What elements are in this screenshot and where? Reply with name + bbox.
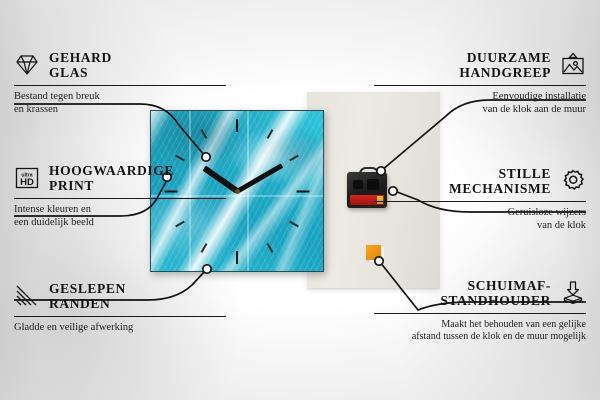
leader-endpoint-schuimafstandhouder: [375, 257, 383, 265]
feature-description: Gladde en veilige afwerking: [14, 322, 226, 335]
feature-divider: [14, 198, 226, 199]
leader-endpoint-geslepen-randen: [203, 265, 211, 273]
feature-duurzame-handgreep: DUURZAMEHANDGREEP Eenvoudige installatie…: [374, 50, 586, 116]
feature-description: Bestand tegen breuken krassen: [14, 91, 226, 116]
feature-title: SCHUIMAF-STANDHOUDER: [440, 278, 551, 308]
feature-divider: [374, 201, 586, 202]
feature-geslepen-randen: GESLEPENRANDEN Gladde en veilige afwerki…: [14, 281, 226, 335]
feature-gehard-glas: GEHARDGLAS Bestand tegen breuken krassen: [14, 50, 226, 116]
feature-heading: ultra HD HOOGWAARDIGEPRINT: [14, 163, 226, 193]
feature-divider: [14, 316, 226, 317]
diamond-icon: [14, 52, 40, 78]
feature-hoogwaardige-print: ultra HD HOOGWAARDIGEPRINT Intense kleur…: [14, 163, 226, 229]
feature-title: GEHARDGLAS: [49, 50, 112, 80]
gear-icon: [560, 168, 586, 194]
feature-description: Geruisloze wijzersvan de klok: [374, 207, 586, 232]
leader-endpoint-gehard-glas: [202, 153, 210, 161]
feature-heading: GEHARDGLAS: [14, 50, 226, 80]
feature-title: DUURZAMEHANDGREEP: [459, 50, 551, 80]
press-down-pad-icon: [560, 280, 586, 306]
feature-title: STILLEMECHANISME: [449, 166, 551, 196]
feature-description: Maakt het behouden van een gelijkeafstan…: [374, 319, 586, 343]
picture-frame-icon: [560, 52, 586, 78]
feature-heading: DUURZAMEHANDGREEP: [374, 50, 586, 80]
feature-stille-mechanisme: STILLEMECHANISME Geruisloze wijzersvan d…: [374, 166, 586, 232]
feature-divider: [14, 85, 226, 86]
feature-heading: STILLEMECHANISME: [374, 166, 586, 196]
feature-description: Eenvoudige installatievan de klok aan de…: [374, 91, 586, 116]
feature-schuimafstandhouder: SCHUIMAF-STANDHOUDER Maakt het behouden …: [374, 278, 586, 343]
feature-heading: SCHUIMAF-STANDHOUDER: [374, 278, 586, 308]
feature-heading: GESLEPENRANDEN: [14, 281, 226, 311]
infographic-canvas: GEHARDGLAS Bestand tegen breuken krassen…: [0, 0, 600, 400]
feature-divider: [374, 313, 586, 314]
feature-divider: [374, 85, 586, 86]
ultra-hd-icon: ultra HD: [14, 165, 40, 191]
svg-text:HD: HD: [20, 177, 34, 188]
feature-title: HOOGWAARDIGEPRINT: [49, 163, 174, 193]
feature-description: Intense kleuren eneen duidelijk beeld: [14, 204, 226, 229]
beveled-edges-icon: [14, 283, 40, 309]
feature-title: GESLEPENRANDEN: [49, 281, 126, 311]
